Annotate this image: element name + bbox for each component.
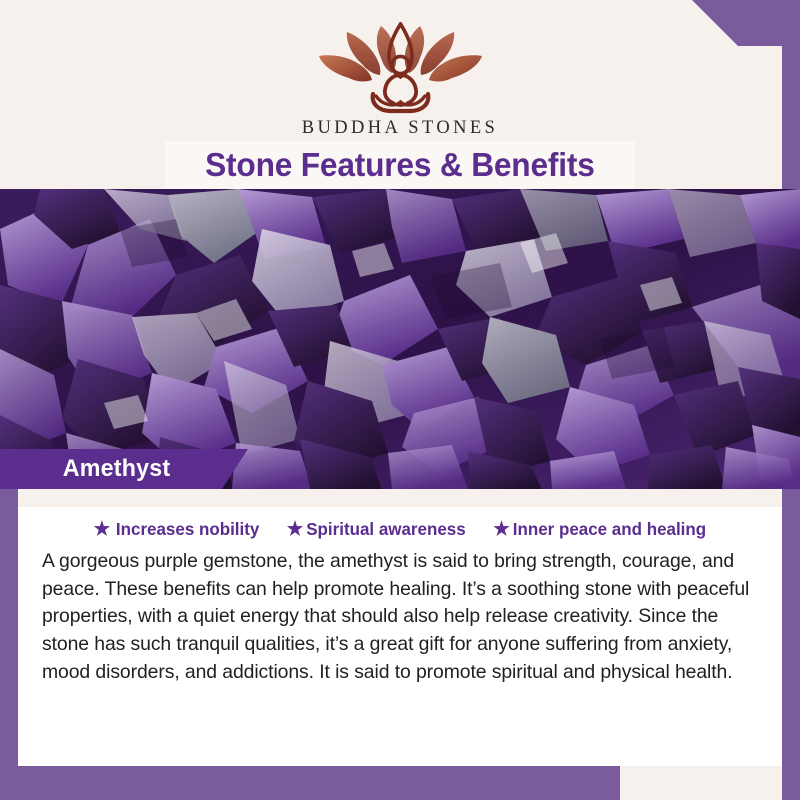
brand-name: BUDDHA STONES (302, 118, 499, 139)
product-info-card: BUDDHA STONES (0, 0, 800, 800)
frame-bottom-notch (0, 766, 800, 800)
content-top-spacer (18, 489, 782, 507)
benefit-label-3: Inner peace and healing (513, 519, 706, 540)
stone-name-label: Amethyst (0, 449, 248, 489)
benefit-item-2: ★ Spiritual awareness (286, 519, 465, 540)
lotus-meditation-icon (313, 22, 488, 114)
star-icon: ★ (286, 520, 303, 539)
stone-description: A gorgeous purple gemstone, the amethyst… (40, 548, 756, 686)
stone-name-text: Amethyst (3, 455, 171, 483)
benefit-item-3: ★ Inner peace and healing (493, 519, 706, 540)
frame-left-accent (0, 488, 18, 800)
benefit-item-1: ★ Increases nobility (93, 519, 259, 540)
content-panel: ★ Increases nobility ★ Spiritual awarene… (18, 507, 782, 766)
benefit-label-1: Increases nobility (116, 519, 259, 540)
brand-logo-area: BUDDHA STONES (0, 0, 800, 150)
amethyst-crystal-cluster-photo (0, 189, 800, 489)
star-icon: ★ (93, 520, 110, 539)
benefit-label-2: Spiritual awareness (306, 519, 465, 540)
page-title: Stone Features & Benefits (205, 146, 595, 184)
section-title-banner: Stone Features & Benefits (165, 141, 635, 189)
star-icon: ★ (493, 520, 510, 539)
benefits-list: ★ Increases nobility ★ Spiritual awarene… (40, 519, 760, 540)
